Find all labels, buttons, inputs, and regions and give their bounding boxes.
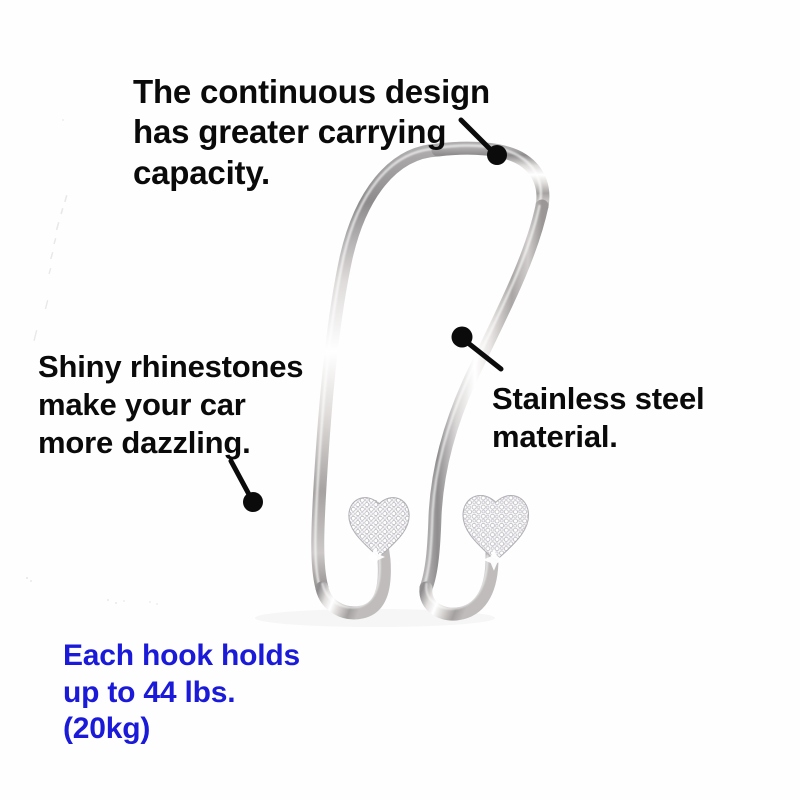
- callout-weight-capacity-text: Each hook holds up to 44 lbs. (20kg): [63, 638, 363, 748]
- rhinestone-heart-right: [457, 484, 537, 571]
- leader-material: [452, 327, 502, 370]
- leader-dot-rhinestone: [243, 492, 263, 512]
- hook-right-u: [426, 528, 492, 614]
- hook-right-stem: [488, 506, 492, 528]
- hook-left-u: [322, 528, 384, 613]
- infographic-canvas: The continuous design has greater carryi…: [0, 0, 800, 800]
- sparkle-glint: [365, 547, 385, 567]
- hook-left-stem: [374, 506, 379, 528]
- callout-rhinestone-text: Shiny rhinestones make your car more daz…: [38, 348, 358, 461]
- leader-rhinestone: [231, 461, 263, 512]
- callout-material-text: Stainless steel material.: [492, 380, 772, 456]
- rhinestone-heart-left: [344, 488, 416, 567]
- leader-dot-material: [452, 327, 473, 348]
- callout-capacity-text: The continuous design has greater carryi…: [133, 72, 533, 193]
- hook-right-u-highlight: [426, 556, 487, 609]
- hook-left-u-highlight: [322, 558, 379, 608]
- stem-sparkles: [261, 550, 399, 569]
- sparkle-glint: [483, 549, 505, 571]
